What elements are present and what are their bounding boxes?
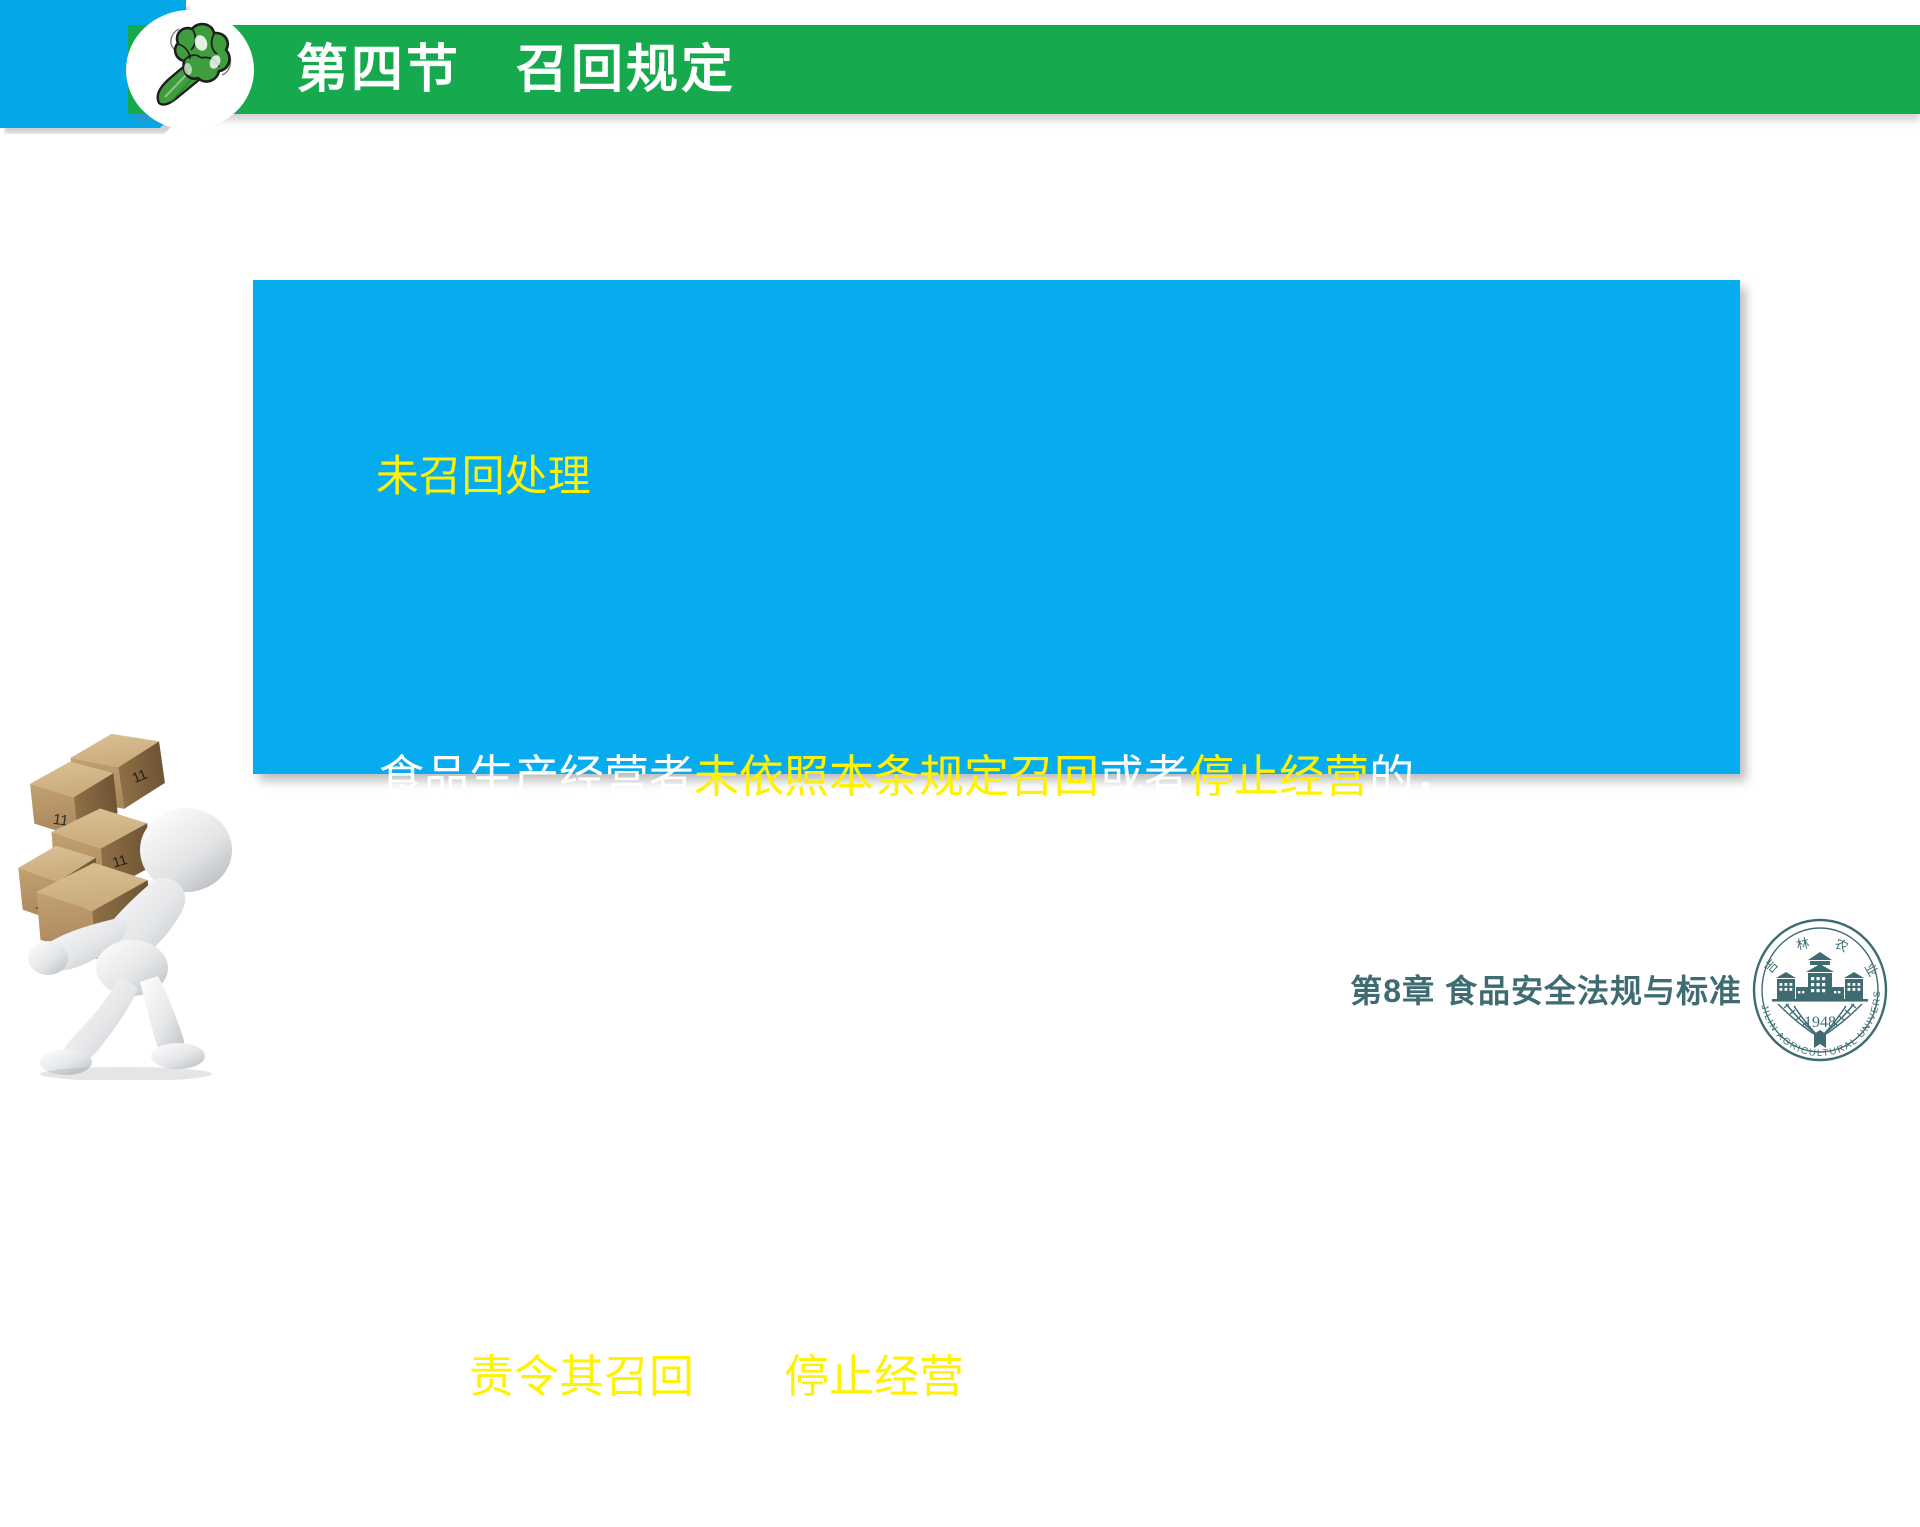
text-segment: 或者 — [1099, 751, 1189, 802]
person-carrying-boxes-icon: 11 11 11 11 11 — [8, 718, 248, 1080]
text-segment: 。 — [964, 1351, 1022, 1402]
text-segment: 或者 — [694, 1351, 784, 1402]
content-body: 未召回处理 食品生产经营者未依照本条规定召回或者停止经营的， 县级以上人民政府食… — [304, 327, 1720, 1527]
content-line-1: 食品生产经营者未依照本条规定召回或者停止经营的， — [304, 627, 1720, 927]
text-segment: 的， — [1369, 751, 1459, 802]
text-segment-highlight: 未依照本条规定召回 — [694, 751, 1099, 802]
page-title: 第四节 召回规定 — [296, 28, 736, 112]
text-segment: 可以 — [379, 1351, 469, 1402]
text-segment: 食品生产经营者 — [379, 751, 694, 802]
content-line-2: 县级以上人民政府食品安全监督管理部门 — [304, 927, 1720, 1227]
text-segment-highlight: 停止经营 — [1189, 751, 1369, 802]
text-segment-highlight: 责令其召回 — [469, 1351, 694, 1402]
broccoli-icon — [126, 10, 254, 130]
content-box: 未召回处理 食品生产经营者未依照本条规定召回或者停止经营的， 县级以上人民政府食… — [253, 280, 1740, 774]
content-line-3: 可以责令其召回或者停止经营 。 — [304, 1227, 1720, 1527]
text-segment: 县级以上人民政府食品安全监督管理部门 — [379, 1051, 1189, 1102]
seal-year: 1948 — [1804, 1014, 1836, 1031]
content-heading: 未召回处理 — [304, 327, 1720, 627]
university-seal-icon: 吉 林 农 业 大 学 JILIN AGRICULTURAL UNIVERSIT… — [1744, 908, 1896, 1066]
text-segment-highlight: 停止经营 — [784, 1351, 964, 1402]
slide-header: 第四节 召回规定 — [0, 0, 1920, 150]
content-heading-text: 未召回处理 — [376, 453, 591, 501]
